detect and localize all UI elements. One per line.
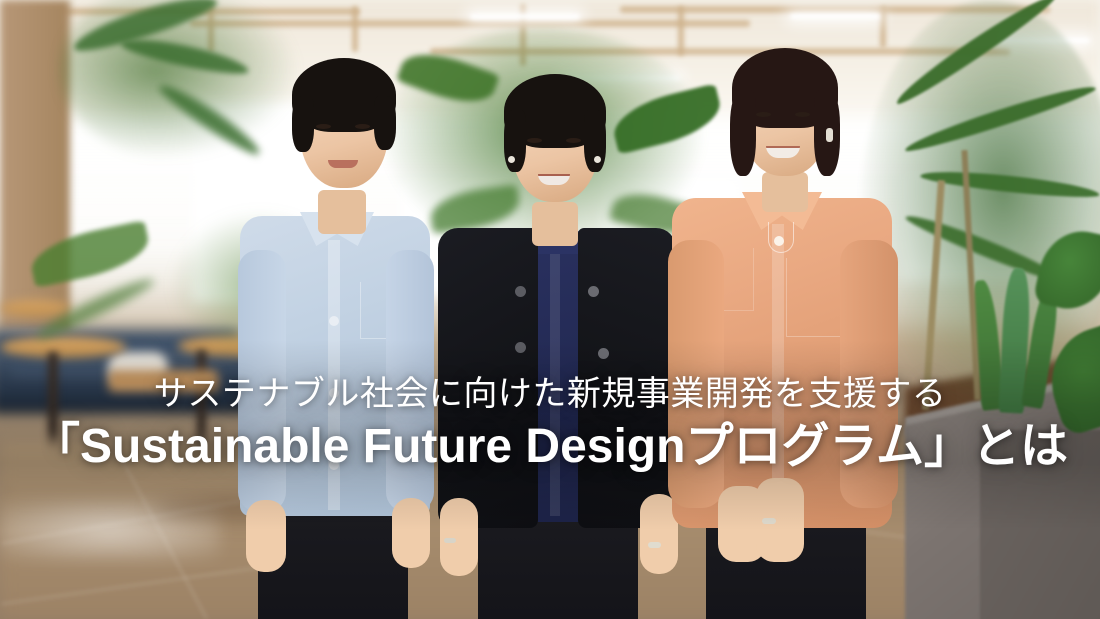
person-right-eye [756,112,771,117]
person-right-neck [762,172,808,212]
person-right-eye [795,112,810,117]
person-right-earring [826,128,833,142]
hero-banner: サステナブル社会に向けた新規事業開発を支援する 「Sustainable Fut… [0,0,1100,619]
person-right-necklace [768,222,794,253]
person-right-hair [730,90,756,176]
headline-scrim [0,340,1100,530]
